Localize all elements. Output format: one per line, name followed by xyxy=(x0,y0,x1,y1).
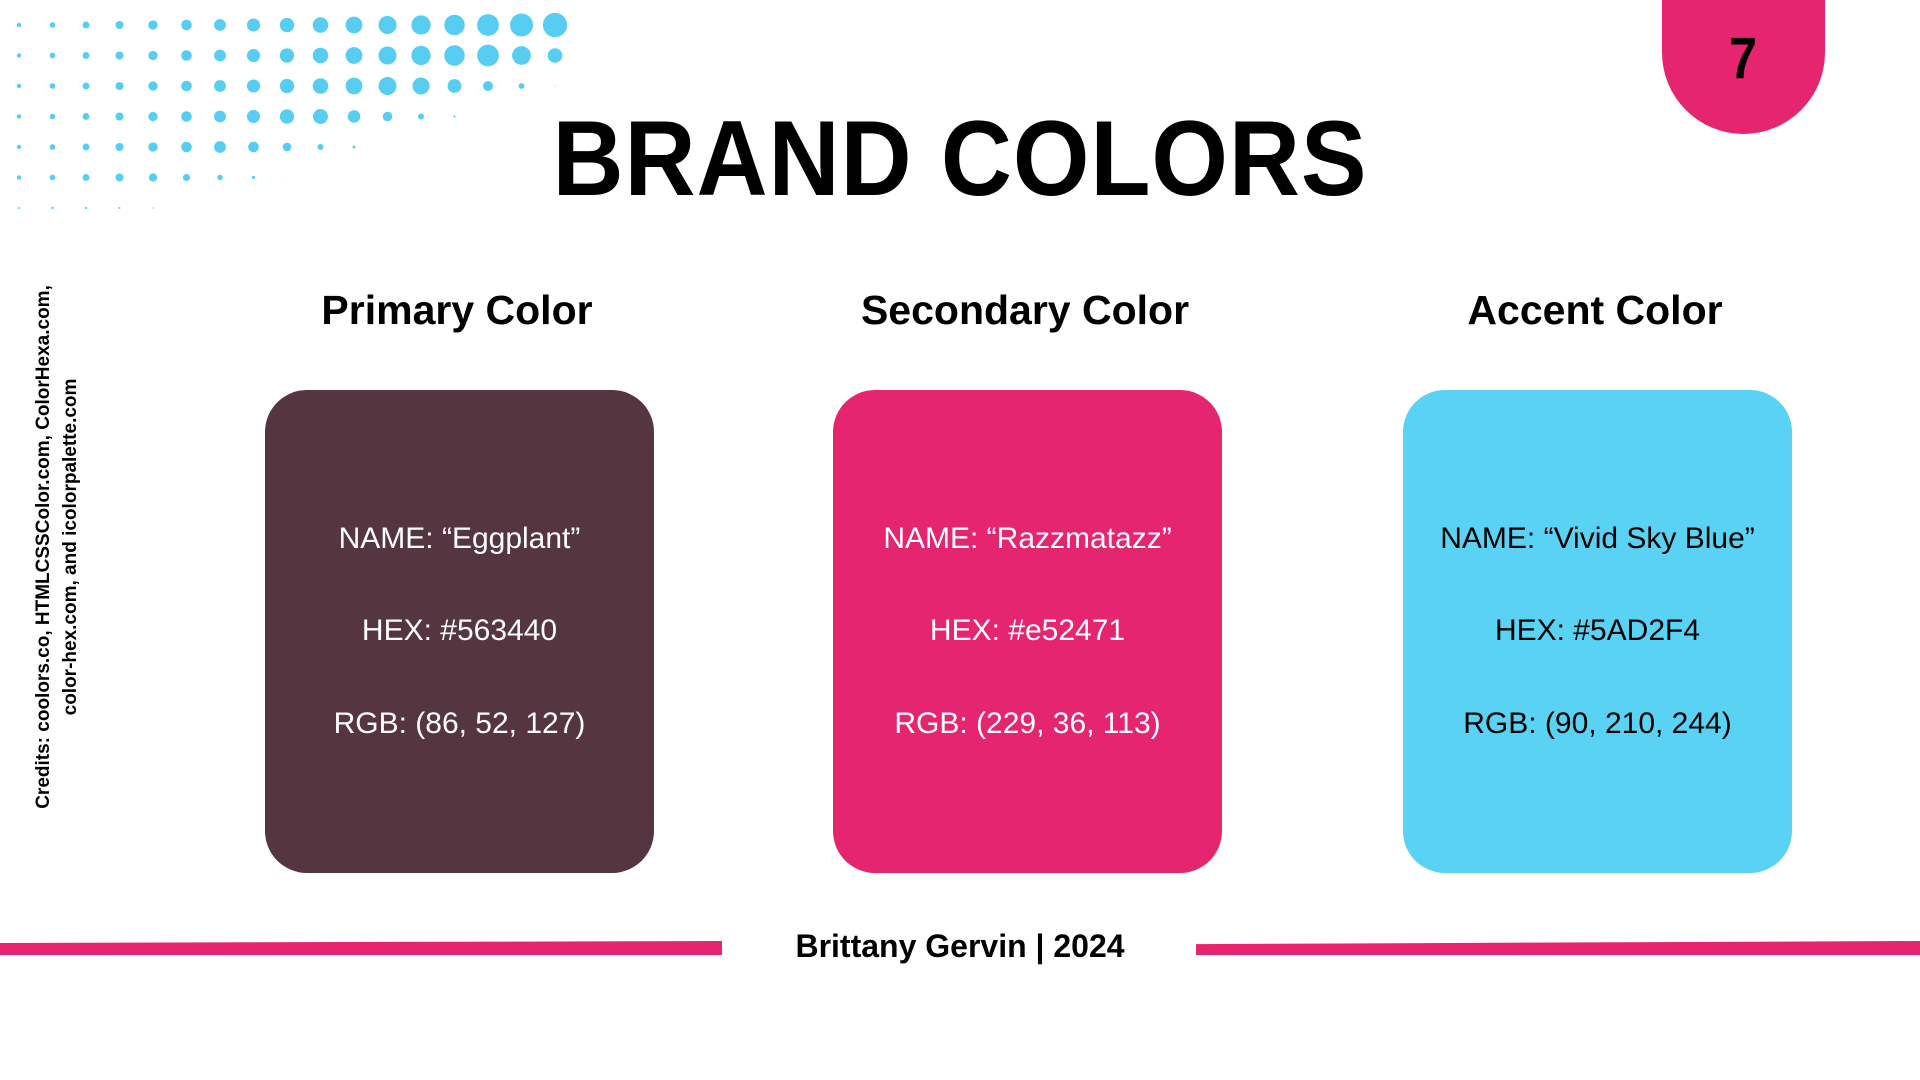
color-swatch-accent[interactable]: NAME: “Vivid Sky Blue” HEX: #5AD2F4 RGB:… xyxy=(1403,390,1792,873)
swatch-hex-line: HEX: #563440 xyxy=(362,614,557,649)
swatch-hex-line: HEX: #e52471 xyxy=(930,614,1125,649)
color-swatch-primary[interactable]: NAME: “Eggplant” HEX: #563440 RGB: (86, … xyxy=(265,390,654,873)
credits-note: Credits: coolors.co, HTMLCSSColor.com, C… xyxy=(31,217,85,877)
swatch-rgb-line: RGB: (229, 36, 113) xyxy=(894,707,1160,742)
column-heading-primary: Primary Color xyxy=(222,290,692,331)
column-heading-secondary: Secondary Color xyxy=(790,290,1260,331)
swatch-hex-line: HEX: #5AD2F4 xyxy=(1495,614,1700,649)
credits-line-2: color-hex.com, and icolorpalette.com xyxy=(58,379,85,716)
slide-canvas: 7 BRAND COLORS Credits: coolors.co, HTML… xyxy=(0,0,1920,1080)
page-number-label: 7 xyxy=(1730,30,1758,88)
color-column-primary: Primary Color NAME: “Eggplant” HEX: #563… xyxy=(222,290,692,331)
swatch-rgb-line: RGB: (86, 52, 127) xyxy=(334,707,586,742)
swatch-rgb-line: RGB: (90, 210, 244) xyxy=(1463,707,1731,742)
swatch-name-line: NAME: “Eggplant” xyxy=(339,522,581,557)
swatch-name-line: NAME: “Razzmatazz” xyxy=(883,522,1171,557)
color-column-accent: Accent Color NAME: “Vivid Sky Blue” HEX:… xyxy=(1360,290,1830,331)
swatch-name-line: NAME: “Vivid Sky Blue” xyxy=(1440,522,1755,557)
color-swatch-secondary[interactable]: NAME: “Razzmatazz” HEX: #e52471 RGB: (22… xyxy=(833,390,1222,873)
credits-line-1: Credits: coolors.co, HTMLCSSColor.com, C… xyxy=(31,285,58,809)
footer-credit: Brittany Gervin | 2024 xyxy=(0,930,1920,962)
column-heading-accent: Accent Color xyxy=(1360,290,1830,331)
page-title: BRAND COLORS xyxy=(77,105,1843,212)
color-column-secondary: Secondary Color NAME: “Razzmatazz” HEX: … xyxy=(790,290,1260,331)
